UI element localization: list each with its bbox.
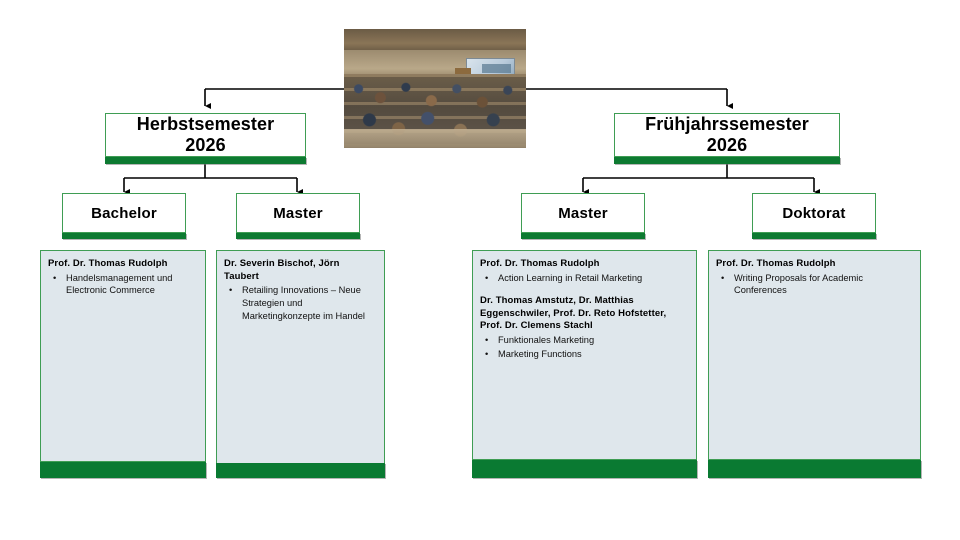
photo-projection-image: [482, 64, 511, 74]
course-title: Marketing Functions: [498, 349, 582, 359]
semester-accent-bar-herbstsemester: [105, 157, 306, 164]
degree-label-master-hs: Master: [273, 205, 323, 222]
degree-box-bachelor-hs[interactable]: Bachelor: [62, 193, 186, 233]
panel-course-list: • Action Learning in Retail Marketing: [480, 272, 688, 285]
list-item: • Funktionales Marketing: [480, 334, 688, 347]
course-title: Action Learning in Retail Marketing: [498, 273, 642, 283]
semester-box-herbstsemester[interactable]: Herbstsemester 2026: [105, 113, 306, 157]
panel-lecturer-name: Dr. Severin Bischof, Jörn Taubert: [224, 258, 376, 283]
semester-box-fruehjahrssemester[interactable]: Frühjahrssemester 2026: [614, 113, 840, 157]
course-title: Writing Proposals for Academic Conferenc…: [734, 273, 863, 296]
panel-accent-bar-doktorat-fs: [708, 460, 921, 478]
bullet-icon: •: [485, 334, 488, 347]
semester-accent-bar-fruehjahrssemester: [614, 157, 840, 164]
list-item: • Retailing Innovations – Neue Strategie…: [224, 284, 376, 322]
course-panel-bachelor-hs: Prof. Dr. Thomas Rudolph • Handelsmanage…: [40, 250, 206, 462]
bullet-icon: •: [53, 272, 56, 285]
panel-course-list: • Handelsmanagement und Electronic Comme…: [48, 272, 197, 298]
bullet-icon: •: [721, 272, 724, 285]
panel-accent-bar-master-fs: [472, 460, 697, 478]
course-title: Funktionales Marketing: [498, 335, 594, 345]
list-item: • Marketing Functions: [480, 348, 688, 361]
degree-label-master-fs: Master: [558, 205, 608, 222]
course-title: Handelsmanagement und Electronic Commerc…: [66, 273, 172, 296]
degree-accent-bar-master-hs: [236, 233, 360, 239]
panel-course-list: • Funktionales Marketing • Marketing Fun…: [480, 334, 688, 361]
photo-front-desks: [344, 129, 526, 148]
slide-canvas: Herbstsemester 2026 Frühjahrssemester 20…: [0, 0, 960, 540]
semester-line2: 2026: [185, 135, 225, 155]
panel-course-list: • Writing Proposals for Academic Confere…: [716, 272, 912, 298]
semester-label-fruehjahrssemester: Frühjahrssemester 2026: [645, 114, 809, 156]
bullet-icon: •: [485, 348, 488, 361]
panel-accent-bar-master-hs: [216, 463, 385, 478]
semester-line1: Herbstsemester: [137, 114, 274, 134]
course-panel-master-fs: Prof. Dr. Thomas Rudolph • Action Learni…: [472, 250, 697, 460]
course-panel-master-hs: Dr. Severin Bischof, Jörn Taubert • Reta…: [216, 250, 385, 477]
list-item: • Writing Proposals for Academic Confere…: [716, 272, 912, 298]
list-item: • Action Learning in Retail Marketing: [480, 272, 688, 285]
list-item: • Handelsmanagement und Electronic Comme…: [48, 272, 197, 298]
bullet-icon: •: [485, 272, 488, 285]
degree-box-master-fs[interactable]: Master: [521, 193, 645, 233]
panel-accent-bar-bachelor-hs: [40, 462, 206, 478]
course-title: Retailing Innovations – Neue Strategien …: [242, 285, 365, 321]
degree-box-doktorat-fs[interactable]: Doktorat: [752, 193, 876, 233]
panel-lecturer-name: Dr. Thomas Amstutz, Dr. Matthias Eggensc…: [480, 295, 688, 333]
degree-label-bachelor-hs: Bachelor: [91, 205, 157, 222]
semester-label-herbstsemester: Herbstsemester 2026: [137, 114, 274, 156]
degree-label-doktorat-fs: Doktorat: [782, 205, 845, 222]
panel-course-list: • Retailing Innovations – Neue Strategie…: [224, 284, 376, 322]
lecture-hall-photo: [344, 29, 526, 148]
degree-accent-bar-master-fs: [521, 233, 645, 239]
panel-lecturer-name: Prof. Dr. Thomas Rudolph: [480, 258, 688, 271]
degree-accent-bar-doktorat-fs: [752, 233, 876, 239]
degree-box-master-hs[interactable]: Master: [236, 193, 360, 233]
bullet-icon: •: [229, 284, 232, 297]
degree-accent-bar-bachelor-hs: [62, 233, 186, 239]
panel-lecturer-name: Prof. Dr. Thomas Rudolph: [48, 258, 197, 271]
semester-line2: 2026: [707, 135, 747, 155]
panel-lecturer-name: Prof. Dr. Thomas Rudolph: [716, 258, 912, 271]
course-panel-doktorat-fs: Prof. Dr. Thomas Rudolph • Writing Propo…: [708, 250, 921, 460]
semester-line1: Frühjahrssemester: [645, 114, 809, 134]
